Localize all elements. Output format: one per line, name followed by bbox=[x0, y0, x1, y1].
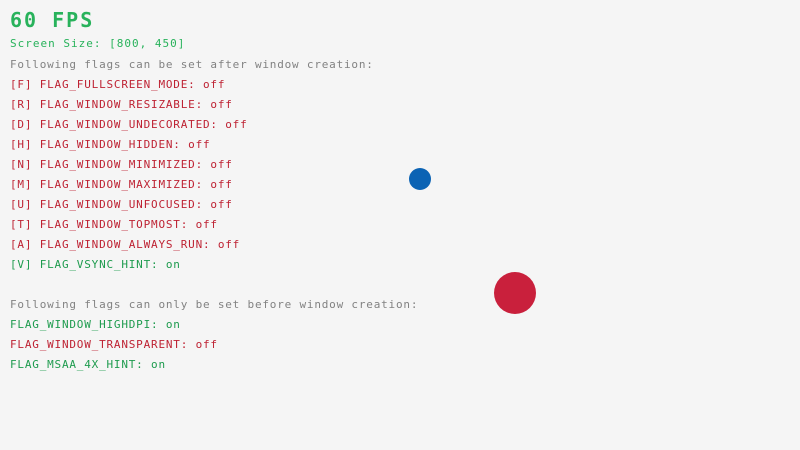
flag-row[interactable]: [F] FLAG_FULLSCREEN_MODE: off bbox=[10, 79, 225, 90]
flag-row[interactable]: [A] FLAG_WINDOW_ALWAYS_RUN: off bbox=[10, 239, 240, 250]
flag-row[interactable]: [R] FLAG_WINDOW_RESIZABLE: off bbox=[10, 99, 233, 110]
blue-ball bbox=[409, 168, 431, 190]
flag-row[interactable]: [M] FLAG_WINDOW_MAXIMIZED: off bbox=[10, 179, 233, 190]
red-ball bbox=[494, 272, 536, 314]
flag-row[interactable]: FLAG_MSAA_4X_HINT: on bbox=[10, 359, 166, 370]
raylib-window-canvas[interactable]: 60 FPS Screen Size: [800, 450] Following… bbox=[0, 0, 800, 450]
screen-size-label: Screen Size: [800, 450] bbox=[10, 38, 185, 49]
flag-row[interactable]: [V] FLAG_VSYNC_HINT: on bbox=[10, 259, 181, 270]
fps-counter: 60 FPS bbox=[10, 10, 94, 30]
flag-row[interactable]: [T] FLAG_WINDOW_TOPMOST: off bbox=[10, 219, 218, 230]
flag-row[interactable]: [U] FLAG_WINDOW_UNFOCUSED: off bbox=[10, 199, 233, 210]
flag-row[interactable]: [D] FLAG_WINDOW_UNDECORATED: off bbox=[10, 119, 248, 130]
flag-row[interactable]: [N] FLAG_WINDOW_MINIMIZED: off bbox=[10, 159, 233, 170]
section-header-after-creation: Following flags can be set after window … bbox=[10, 59, 374, 70]
section-header-before-creation: Following flags can only be set before w… bbox=[10, 299, 418, 310]
flag-row[interactable]: FLAG_WINDOW_HIGHDPI: on bbox=[10, 319, 181, 330]
flag-row[interactable]: FLAG_WINDOW_TRANSPARENT: off bbox=[10, 339, 218, 350]
flag-row[interactable]: [H] FLAG_WINDOW_HIDDEN: off bbox=[10, 139, 210, 150]
